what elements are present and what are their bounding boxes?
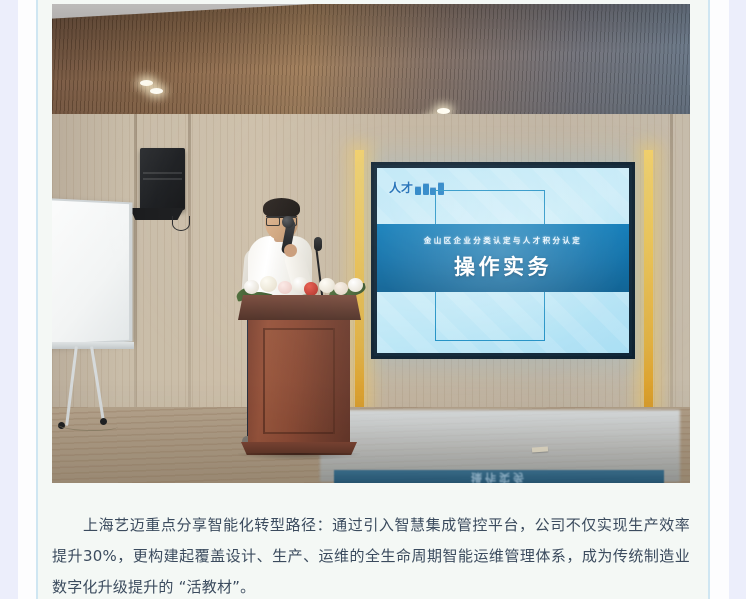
ceiling-downlight xyxy=(140,80,153,86)
slide-title-band: 金山区企业分类认定与人才积分认定 操作实务 xyxy=(377,224,629,292)
wall-seam xyxy=(134,114,137,419)
microphone-head xyxy=(282,216,294,228)
article-page: 人才 金山区企业分类认定与人才积分认定 操作实务 xyxy=(0,0,746,599)
amber-light-strip-right xyxy=(644,150,653,412)
photo-scene: 人才 金山区企业分类认定与人才积分认定 操作实务 xyxy=(52,4,690,483)
wall-seam xyxy=(188,114,191,419)
slide-frame-bottom xyxy=(435,291,545,341)
gooseneck-mic-head xyxy=(314,237,322,251)
led-presentation-screen: 人才 金山区企业分类认定与人才积分认定 操作实务 xyxy=(371,162,635,359)
ceiling-downlight xyxy=(150,88,163,94)
wall-seam xyxy=(670,114,673,419)
whiteboard xyxy=(52,198,133,346)
podium-panel xyxy=(263,328,335,434)
podium-shadow xyxy=(238,453,360,460)
speaker-cable xyxy=(172,216,190,231)
photo-caption: 上海艺迈重点分享智能化转型路径：通过引入智慧集成管控平台，公司不仅实现生产效率提… xyxy=(52,510,690,599)
presenter-hand xyxy=(284,244,297,257)
slide-title: 操作实务 xyxy=(454,251,552,281)
podium-top xyxy=(238,295,361,320)
talent-logo-text: 人才 xyxy=(389,182,413,194)
slide-subtitle: 金山区企业分类认定与人才积分认定 xyxy=(424,235,582,246)
page-margin-right xyxy=(710,0,729,599)
presenter-hair xyxy=(263,198,300,218)
wall-speaker xyxy=(140,148,185,210)
article-photo: 人才 金山区企业分类认定与人才积分认定 操作实务 xyxy=(52,4,690,483)
floor-reflected-title: 操作实务 xyxy=(334,470,664,483)
page-outer-right xyxy=(729,0,746,599)
page-margin-left xyxy=(18,0,36,599)
screen-content: 人才 金山区企业分类认定与人才积分认定 操作实务 xyxy=(377,168,629,353)
